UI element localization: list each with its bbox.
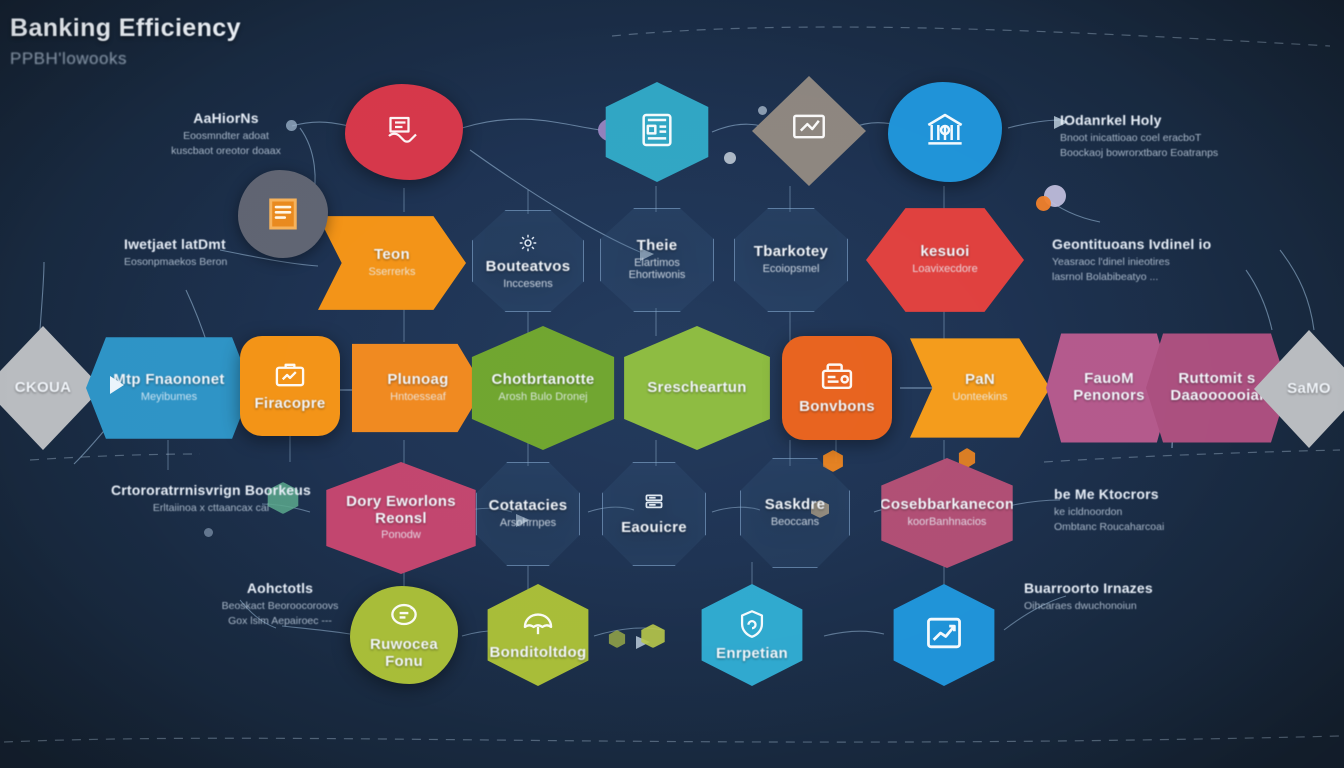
node-label: Bonvbons: [791, 399, 883, 416]
callout-title: Iwetjaet latDmt: [124, 236, 334, 252]
growth-chart-icon: [923, 614, 965, 652]
id-card-icon: [637, 110, 677, 150]
node-label: Enrpetian: [708, 646, 796, 663]
node-sublabel: Ecoiopsmel: [755, 263, 828, 276]
presentation-icon: [789, 111, 829, 147]
node-label: Saskdre: [757, 497, 833, 514]
node-label: Srescheartun: [639, 380, 754, 397]
node-sublabel: Arsohrnpes: [492, 517, 564, 530]
callout-c2: Iwetjaet latDmt Eosonpmaekos Beron: [124, 236, 334, 270]
node-sublabel: Loavixecdore: [904, 263, 985, 276]
callout-body: Eosonpmaekos Beron: [124, 255, 334, 270]
node-sublabel: Sserrerks: [360, 266, 423, 279]
callout-body: ke icldnoordon Ombtanc Roucaharcoai: [1054, 505, 1304, 535]
bank-building-icon: [924, 110, 966, 150]
callout-c8: Buarroorto Irnazes Oihcaraes dwuchonoiun: [1024, 580, 1264, 614]
callout-c7: be Me Ktocrors ke icldnoordon Ombtanc Ro…: [1054, 486, 1304, 535]
callout-title: Crtororatrrnisvrign Boorkeus: [96, 482, 326, 498]
callout-title: be Me Ktocrors: [1054, 486, 1304, 502]
gear-node-icon: [517, 232, 539, 254]
node-label: Theie: [629, 238, 686, 255]
node-label: Bouteatvos: [478, 259, 579, 276]
node-label: Plunoag: [379, 372, 456, 389]
node-label: Tbarkotey: [746, 244, 836, 261]
node-label: Ruwocea Fonu: [350, 637, 458, 671]
node-sublabel: Uonteekins: [944, 391, 1015, 404]
callout-body: Bnoot inicattioao coel eracboT Boockaoj …: [1060, 131, 1300, 161]
page-title: Banking Efficiency: [10, 14, 241, 43]
node-n12[interactable]: Firacopre: [240, 336, 340, 436]
callout-title: Geontituoans Ivdinel io: [1052, 236, 1282, 252]
node-sublabel: koorBanhnacios: [900, 516, 995, 529]
node-label: SaMO: [1279, 381, 1339, 398]
node-n4[interactable]: [888, 82, 1002, 182]
callout-c6: Aohctotls Beoskact Beoroocoroovs Gox lsi…: [180, 580, 380, 629]
diagram-canvas: Banking Efficiency PPBH'lowooks: [0, 0, 1344, 768]
handshake-document-icon: [383, 111, 425, 149]
node-label: Cotatacies: [481, 498, 576, 515]
decor-dot: [1036, 196, 1051, 211]
decor-dot: [204, 528, 213, 537]
circle-chat-icon: [386, 600, 422, 632]
page-subtitle: PPBH'lowooks: [10, 49, 241, 69]
node-sublabel: Hntoesseaf: [382, 391, 454, 404]
node-sublabel: Elartimos Ehortiwonis: [601, 257, 713, 282]
node-sublabel: Meyibumes: [133, 391, 205, 404]
callout-title: Aohctotls: [180, 580, 380, 596]
node-label: Firacopre: [246, 396, 333, 413]
callout-body: Beoskact Beoroocoroovs Gox lsim Aepairoe…: [180, 599, 380, 629]
callout-body: Oihcaraes dwuchonoiun: [1024, 599, 1264, 614]
callout-title: AaHiorNs: [126, 110, 326, 126]
node-label: Chotbrtanotte: [483, 372, 602, 389]
play-triangle-icon: [110, 376, 124, 394]
node-label: CKOUA: [7, 380, 80, 397]
callout-c5: Crtororatrrnisvrign Boorkeus Erltaiinoa …: [96, 482, 326, 516]
register-icon: [818, 360, 856, 394]
callout-c1: AaHiorNs Eoosmndter adoat kuscbaot oreot…: [126, 110, 326, 159]
node-label: Dory Eworlons Reonsl: [318, 494, 484, 528]
node-n16[interactable]: Bonvbons: [782, 336, 892, 440]
node-label: PaN: [957, 372, 1003, 389]
node-n24[interactable]: Saskdre Beoccans: [740, 458, 850, 568]
callout-title: IOdanrkel Holy: [1060, 112, 1300, 128]
node-label: Eaouicre: [613, 520, 695, 537]
node-sublabel: Arosh Bulo Dronej: [490, 391, 595, 404]
callout-body: Eoosmndter adoat kuscbaot oreotor doaax: [126, 129, 326, 159]
node-label: Mtp Fnaononet: [105, 372, 232, 389]
node-sublabel: Inccesens: [495, 278, 561, 291]
decor-dot: [758, 106, 767, 115]
node-sublabel: Beoccans: [763, 516, 827, 529]
callout-title: Buarroorto Irnazes: [1024, 580, 1264, 596]
callout-c3: IOdanrkel Holy Bnoot inicattioao coel er…: [1060, 112, 1300, 161]
callout-c4: Geontituoans Ivdinel io Yeasraoc l'dinel…: [1052, 236, 1282, 285]
callout-body: Erltaiinoa x cttaancax cai: [96, 501, 326, 516]
server-stack-icon: [641, 491, 667, 515]
callout-body: Yeasraoc l'dinel inieotires lasrnol Bola…: [1052, 255, 1282, 285]
node-label: Teon: [366, 247, 418, 264]
node-label: kesuoi: [912, 244, 977, 261]
chart-briefcase-icon: [272, 359, 308, 391]
node-sublabel: Ponodw: [373, 529, 429, 542]
node-label: Bonditoltdog: [482, 645, 595, 662]
shield-lock-icon: [735, 607, 769, 641]
decor-dot: [724, 152, 736, 164]
page-header: Banking Efficiency PPBH'lowooks: [10, 14, 241, 69]
umbrella-icon: [520, 608, 556, 640]
node-label: Cosebbarkanecon: [872, 497, 1023, 514]
node-n1[interactable]: [345, 84, 463, 180]
